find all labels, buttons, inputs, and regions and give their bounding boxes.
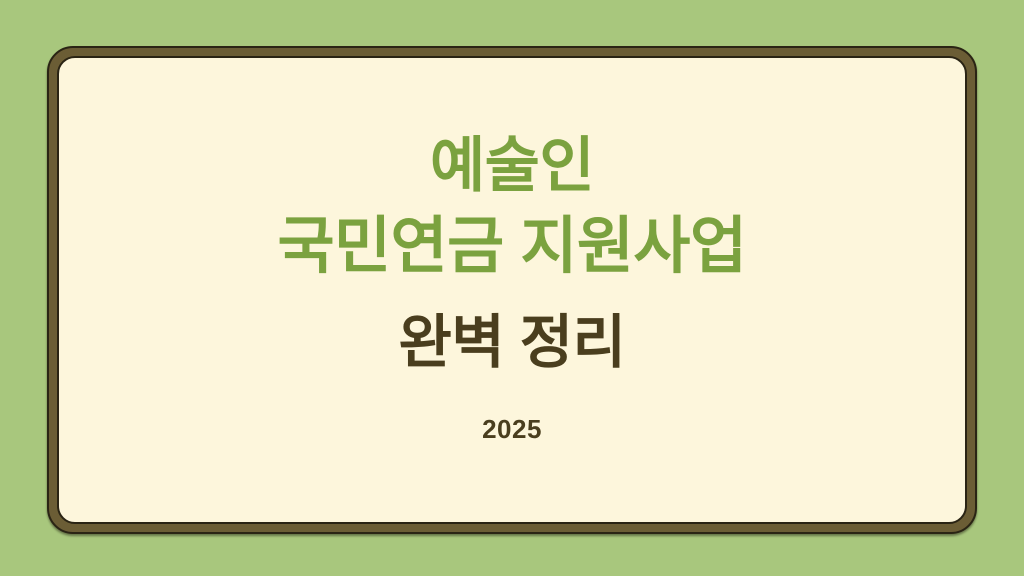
title-slide: 예술인 국민연금 지원사업 완벽 정리 2025 bbox=[0, 0, 1024, 576]
title-line-3: 완벽 정리 bbox=[398, 314, 625, 372]
title-line-2: 국민연금 지원사업 bbox=[277, 216, 746, 278]
title-content-stack: 예술인 국민연금 지원사업 완벽 정리 2025 bbox=[59, 58, 965, 522]
year-label: 2025 bbox=[482, 414, 542, 445]
decorative-frame: 예술인 국민연금 지원사업 완벽 정리 2025 bbox=[47, 46, 977, 534]
title-line-1: 예술인 bbox=[430, 136, 594, 196]
frame-inner-panel: 예술인 국민연금 지원사업 완벽 정리 2025 bbox=[57, 56, 967, 524]
